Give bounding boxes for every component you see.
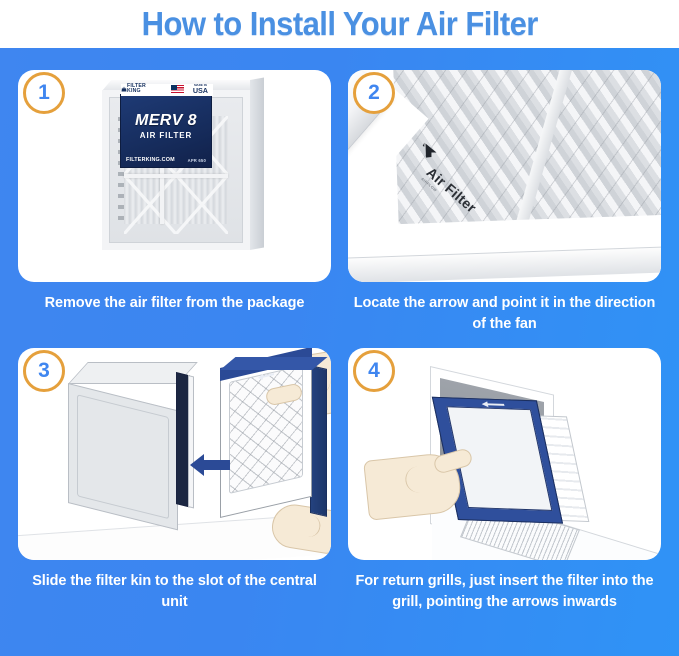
step-4-image-card: 4: [348, 348, 661, 560]
merv-rating: MERV 8: [121, 112, 211, 130]
label-website: FILTERKING.COM: [126, 157, 175, 163]
step-3-image-card: 3: [18, 348, 331, 560]
country-text: USA: [193, 87, 208, 95]
central-unit-front: [68, 383, 178, 530]
step-card-3: 3 Slide the filter kin to the slot of th…: [18, 348, 331, 640]
brand-line-2: KING: [127, 89, 146, 94]
filter-3-side-edge: [310, 365, 327, 517]
filter-4-arrow-mark-icon: [481, 400, 506, 410]
infographic-page: How to Install Your Air Filter: [0, 0, 679, 656]
slide-filter-illustration: [18, 348, 331, 560]
step-2-image-card: Air Filter AIRFLOW 2: [348, 70, 661, 282]
product-label: FILTER KING MADE IN USA MERV 8 AIR FILTE…: [120, 94, 212, 168]
central-unit-slot-lip: [188, 375, 194, 508]
filter-corner-photo: Air Filter AIRFLOW: [348, 70, 661, 282]
step-number-badge-1: 1: [23, 72, 65, 114]
step-card-1: FILTER KING MADE IN USA MERV 8 AIR FILTE…: [18, 70, 331, 338]
filter-horizontal-rail: [124, 174, 228, 178]
step-card-2: Air Filter AIRFLOW 2 Locate the arrow an…: [348, 70, 661, 338]
step-caption-2: Locate the arrow and point it in the dir…: [348, 293, 661, 335]
filter-package-photo: FILTER KING MADE IN USA MERV 8 AIR FILTE…: [94, 78, 264, 256]
filter-3-top-edge: [220, 357, 327, 370]
step-caption-4: For return grills, just insert the filte…: [348, 571, 661, 613]
filter-side-face: [250, 78, 264, 250]
airflow-arrow-icon: [421, 137, 441, 159]
step-card-4: 4 For return grills, just insert the fil…: [348, 348, 661, 640]
step-1-image-card: FILTER KING MADE IN USA MERV 8 AIR FILTE…: [18, 70, 331, 282]
header: How to Install Your Air Filter: [0, 0, 679, 48]
us-flag-icon: [171, 85, 184, 93]
label-subtitle: AIR FILTER: [121, 131, 211, 140]
step-number-badge-2: 2: [353, 72, 395, 114]
insert-direction-arrow-icon: [190, 452, 230, 478]
page-title: How to Install Your Air Filter: [141, 5, 537, 43]
step-number-badge-4: 4: [353, 350, 395, 392]
step-caption-1: Remove the air filter from the package: [18, 293, 331, 314]
brand-name: FILTER KING: [127, 84, 146, 95]
made-in-usa: MADE IN USA: [193, 84, 208, 95]
step-caption-3: Slide the filter kin to the slot of the …: [18, 571, 331, 613]
label-apr: APR 650: [188, 158, 206, 163]
step-number-badge-3: 3: [23, 350, 65, 392]
steps-grid: FILTER KING MADE IN USA MERV 8 AIR FILTE…: [0, 48, 679, 656]
return-grill-illustration: [348, 348, 661, 560]
